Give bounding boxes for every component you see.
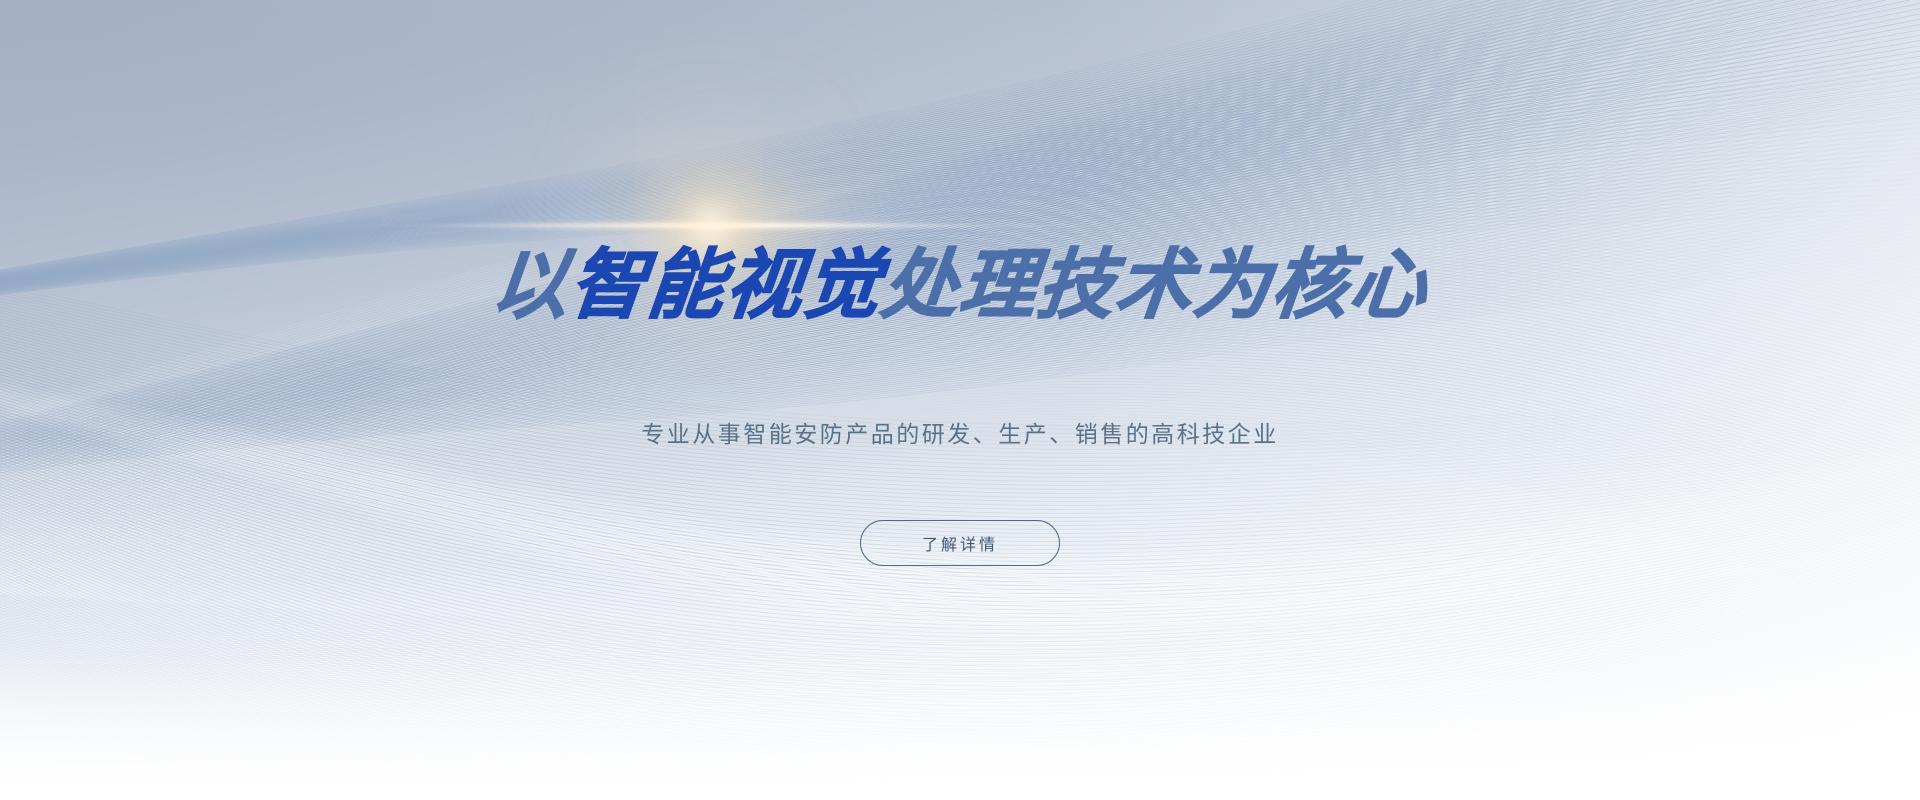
headline-accent-text: 智能视觉	[566, 243, 887, 328]
hero-banner: 以智能视觉处理技术为核心 专业从事智能安防产品的研发、生产、销售的高科技企业 了…	[0, 0, 1920, 800]
headline-tail-text: 处理技术为核心	[878, 243, 1433, 328]
hero-subtitle: 专业从事智能安防产品的研发、生产、销售的高科技企业	[641, 415, 1279, 449]
hero-headline: 以智能视觉处理技术为核心	[488, 248, 1432, 324]
headline-lead-text: 以	[488, 243, 575, 328]
hero-content: 以智能视觉处理技术为核心 专业从事智能安防产品的研发、生产、销售的高科技企业 了…	[0, 0, 1920, 800]
learn-more-button[interactable]: 了解详情	[860, 520, 1060, 566]
